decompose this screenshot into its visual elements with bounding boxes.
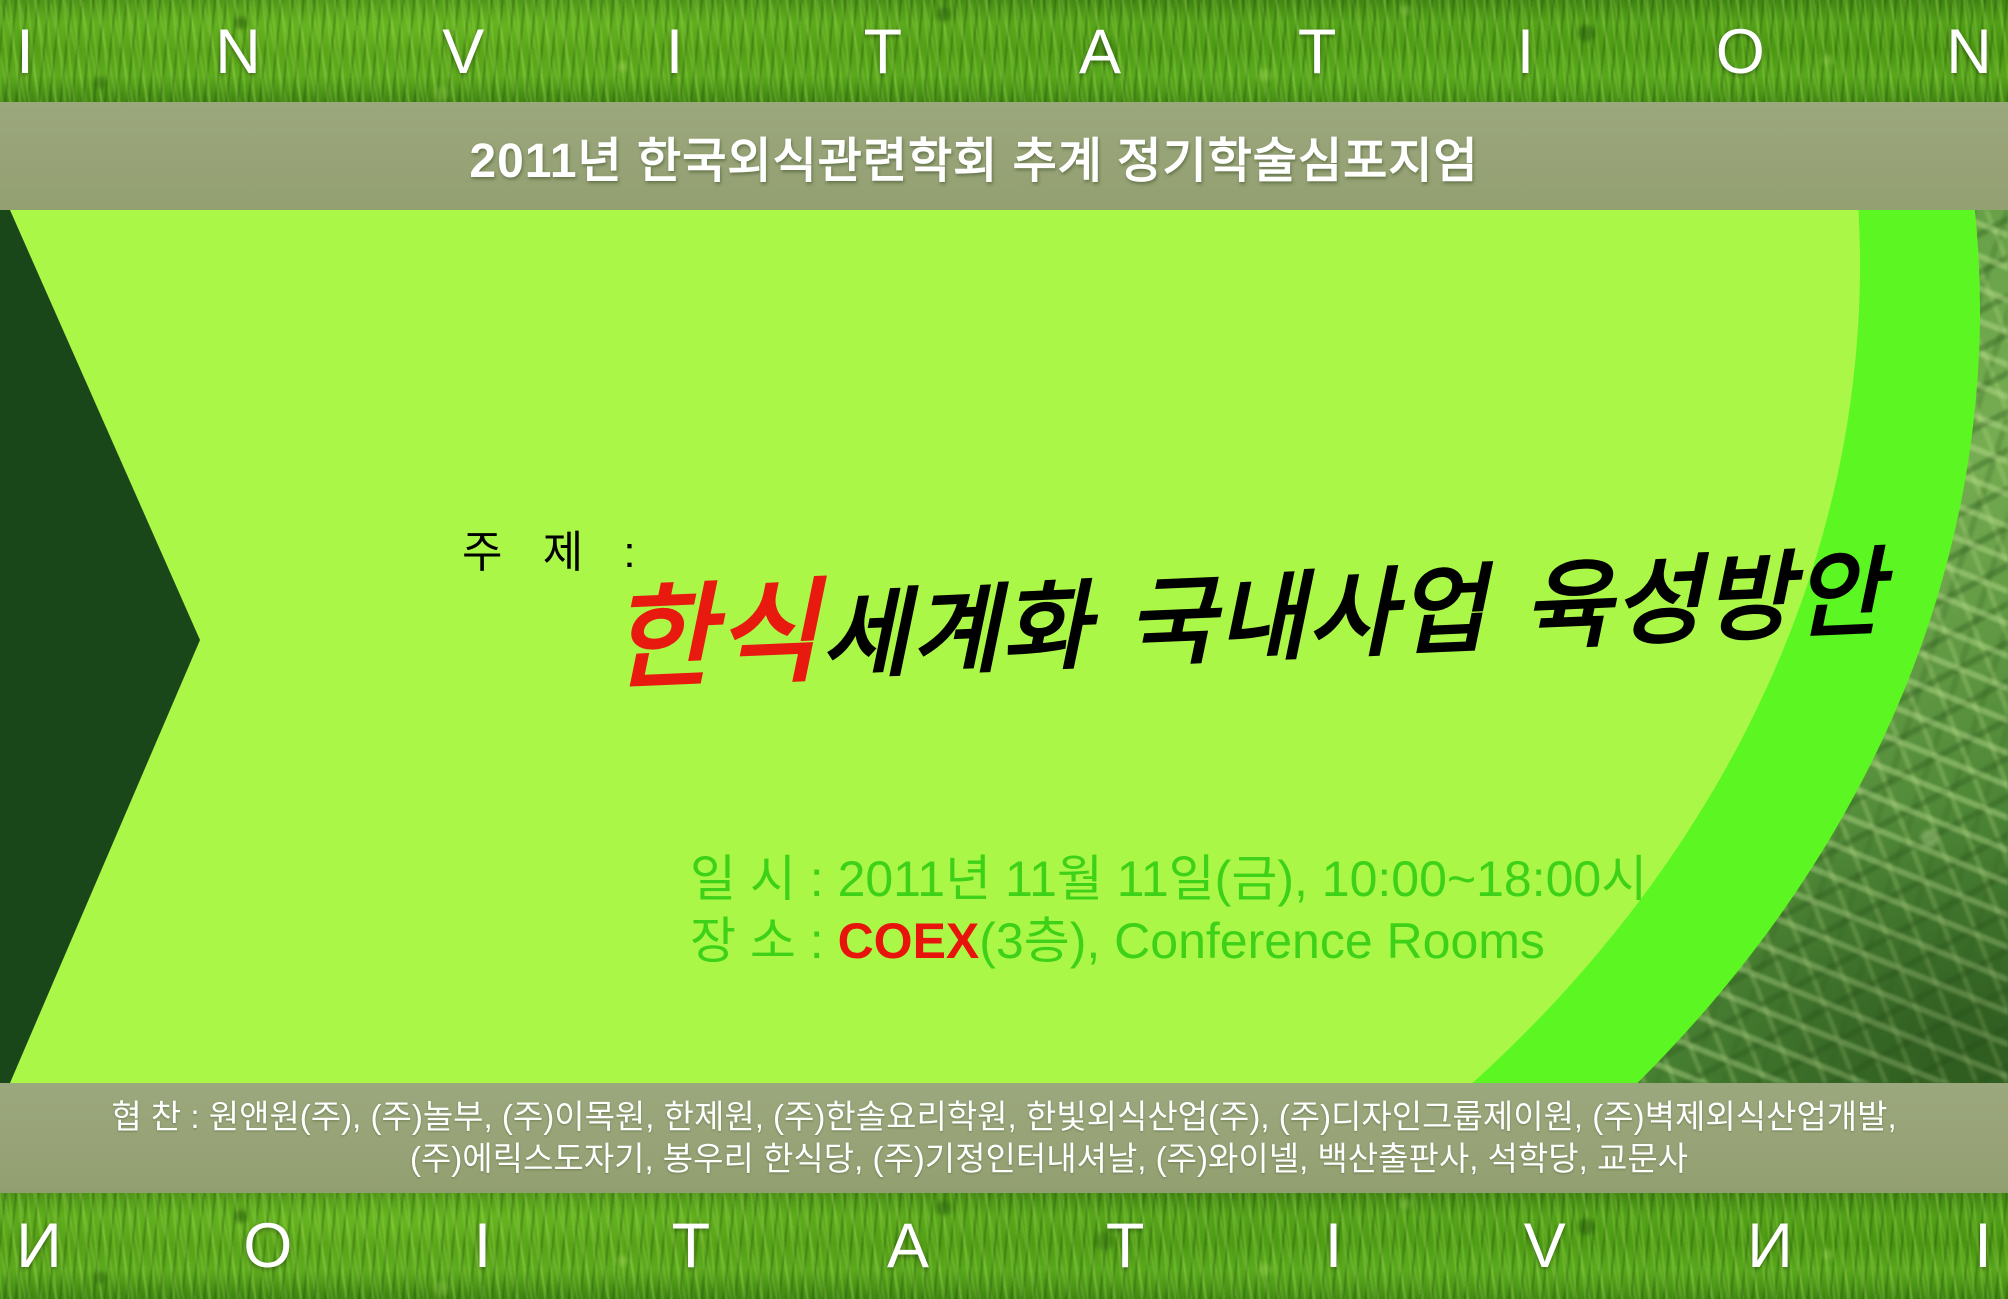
invitation-word-top: I N V I T A T I O N <box>0 0 2008 104</box>
venue-highlight: COEX <box>838 913 980 969</box>
sponsor-bar: 협 찬 : 원앤원(주), (주)놀부, (주)이목원, 한제원, (주)한솔요… <box>0 1083 2008 1193</box>
top-grass-banner: I N V I T A T I O N <box>0 0 2008 104</box>
dark-green-chevron <box>0 210 300 1083</box>
invitation-word-bottom-mirrored: I N V I T A T I O N <box>0 1193 2008 1299</box>
event-info-block: 일 시 : 2011년 11월 11일(금), 10:00~18:00시 장 소… <box>690 848 1647 972</box>
bottom-grass-banner: I N V I T A T I O N <box>0 1193 2008 1299</box>
venue-prefix: 장 소 : <box>690 913 838 969</box>
poster-main-stage: 주 제 : 한식세계화 국내사업 육성방안 일 시 : 2011년 11월 11… <box>0 210 2008 1083</box>
symposium-title: 2011년 한국외식관련학회 추계 정기학술심포지엄 <box>469 121 1478 191</box>
calligraphy-highlight: 한식 <box>608 566 823 706</box>
event-date-line: 일 시 : 2011년 11월 11일(금), 10:00~18:00시 <box>690 848 1647 910</box>
sponsor-line-1: 협 찬 : 원앤원(주), (주)놀부, (주)이목원, 한제원, (주)한솔요… <box>111 1096 1896 1138</box>
symposium-title-bar: 2011년 한국외식관련학회 추계 정기학술심포지엄 <box>0 102 2008 210</box>
event-venue-line: 장 소 : COEX(3층), Conference Rooms <box>690 910 1647 972</box>
sponsor-line-2: (주)에릭스도자기, 봉우리 한식당, (주)기정인터내셔날, (주)와이넬, … <box>320 1138 1688 1180</box>
invitation-poster: I N V I T A T I O N 2011년 한국외식관련학회 추계 정기… <box>0 0 2008 1299</box>
venue-rest: (3층), Conference Rooms <box>979 913 1545 969</box>
